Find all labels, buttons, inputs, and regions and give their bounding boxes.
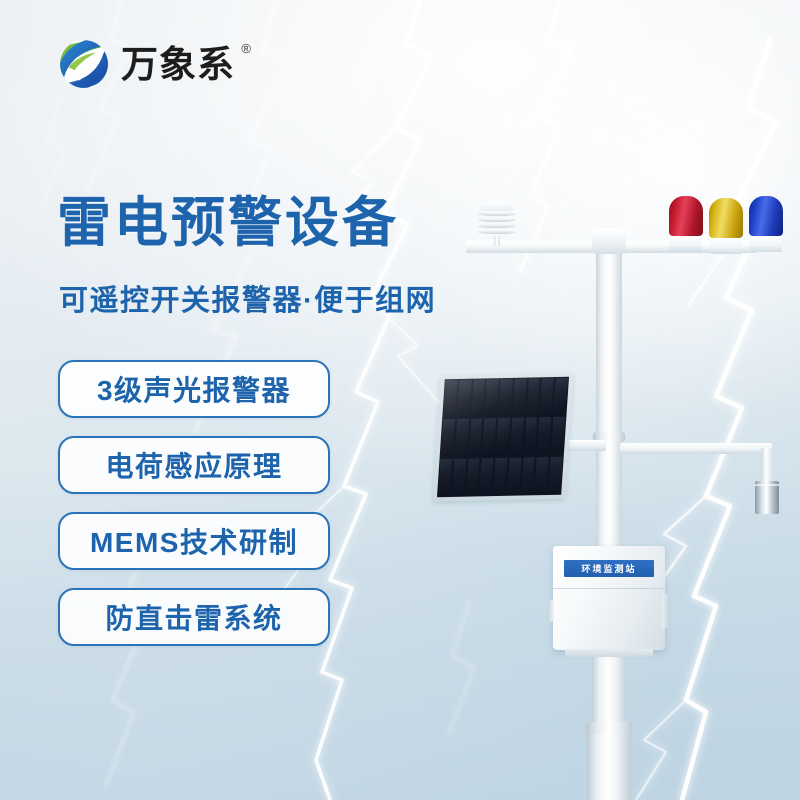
registered-trademark-icon: ® bbox=[241, 42, 252, 55]
lightning-field-sensor bbox=[755, 481, 779, 514]
radiation-shield-sensor bbox=[477, 202, 517, 242]
sensor-arm-horizontal bbox=[620, 443, 772, 454]
shield-plate bbox=[478, 218, 516, 222]
feature-pill-1: 3级声光报警器 bbox=[58, 360, 330, 418]
page-subtitle: 可遥控开关报警器·便于组网 bbox=[59, 284, 436, 319]
red-alarm-beacon bbox=[669, 196, 703, 254]
controller-box-seam bbox=[553, 588, 665, 589]
shield-plate bbox=[478, 212, 516, 216]
controller-box-hinge bbox=[548, 600, 554, 622]
feature-pill-2: 电荷感应原理 bbox=[58, 436, 330, 494]
page-title: 雷电预警设备 bbox=[57, 194, 399, 252]
solar-cell-grid bbox=[437, 377, 569, 498]
red-beacon-base bbox=[670, 236, 702, 252]
blue-beacon-base bbox=[750, 236, 782, 252]
pole-joint-lower bbox=[586, 722, 632, 734]
controller-box-label: 环境监测站 bbox=[564, 560, 654, 577]
mounting-pole-base bbox=[587, 726, 631, 800]
red-beacon-dome bbox=[669, 196, 703, 236]
blue-beacon-dome bbox=[749, 196, 783, 236]
brand-name-text: 万象系 bbox=[121, 44, 235, 85]
brand-logo: 万象系 ® bbox=[58, 38, 235, 90]
controller-box: 环境监测站 bbox=[553, 546, 665, 650]
shield-plate bbox=[478, 224, 516, 228]
feature-pill-3: MEMS技术研制 bbox=[58, 512, 330, 570]
product-marketing-banner: 环境监测站 bbox=[0, 0, 800, 800]
feature-list: 3级声光报警器 电荷感应原理 MEMS技术研制 防直击雷系统 bbox=[58, 360, 330, 646]
solar-panel bbox=[433, 373, 574, 502]
yellow-beacon-dome bbox=[709, 198, 743, 238]
yellow-alarm-beacon bbox=[709, 198, 743, 254]
shield-cap bbox=[480, 202, 514, 211]
blue-alarm-beacon bbox=[749, 196, 783, 254]
feature-pill-4: 防直击雷系统 bbox=[58, 588, 330, 646]
shield-stem bbox=[494, 236, 500, 246]
crossarm-junction-block bbox=[592, 228, 626, 254]
globe-swirl-logo-icon bbox=[58, 38, 110, 90]
shield-plate bbox=[478, 230, 516, 234]
controller-box-foot bbox=[565, 649, 653, 657]
brand-name: 万象系 ® bbox=[121, 46, 235, 83]
yellow-beacon-base bbox=[710, 238, 742, 254]
controller-box-latch bbox=[662, 594, 669, 628]
